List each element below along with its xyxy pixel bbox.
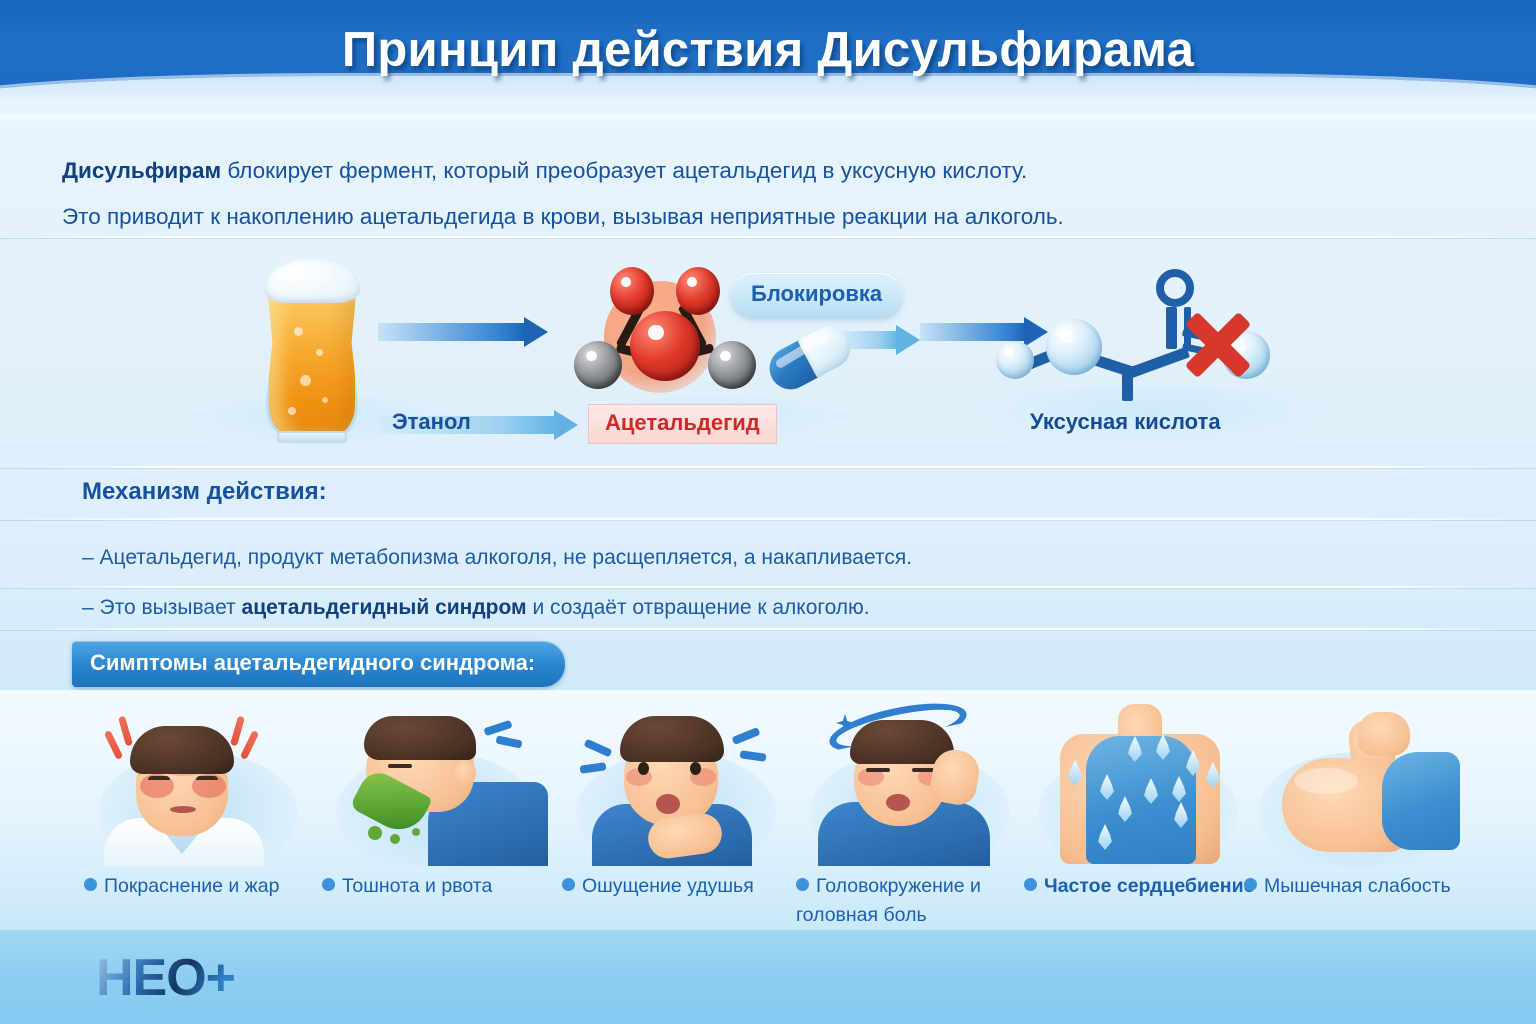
eye <box>690 762 701 775</box>
atom-hydrogen <box>708 341 756 389</box>
hair <box>620 716 724 762</box>
hair <box>364 716 476 760</box>
blocked-x-icon <box>1180 307 1256 383</box>
divider-intro <box>0 236 1536 239</box>
symptom-label-2: Тошнота и рвота <box>322 872 557 901</box>
atom-hydrogen <box>996 341 1034 379</box>
fist <box>1358 712 1410 756</box>
vomit-drop <box>368 826 382 840</box>
bullet-dot-icon <box>796 878 809 891</box>
atom-carbon-center <box>630 311 700 381</box>
mechanism-bullet-2: – Это вызывает ацетальдегидный синдром и… <box>82 596 870 620</box>
bullet-dot-icon <box>322 878 335 891</box>
beer-glass-icon <box>258 257 366 443</box>
vomit-drop <box>390 834 400 844</box>
acetic-acid-molecule <box>990 265 1280 405</box>
symptoms-illustration-row <box>84 694 1464 866</box>
mechanism-heading: Механизм действия: <box>82 478 327 506</box>
atom-oxygen <box>676 267 720 315</box>
symptom-label-1: Покраснение и жар <box>84 872 319 901</box>
arrow-ethanol-to-acetaldehyde <box>378 317 548 347</box>
symptom-label-4: Головокружение и головная боль <box>796 872 1031 930</box>
page-title: Принцип действия Дисульфирама <box>0 0 1536 100</box>
symptom-art-flushed-face <box>84 694 314 866</box>
symptom-label-text: Тошнота и рвота <box>342 875 492 897</box>
divider-mechanism <box>0 518 1536 521</box>
bullet2-post: и создаёт отвращение к алкоголю. <box>527 596 870 619</box>
symptom-art-dizzy-man <box>796 694 1026 866</box>
caption-acetic-acid: Уксусная кислота <box>1030 409 1221 435</box>
heat-wave <box>240 730 259 760</box>
muscle-highlight <box>1294 768 1358 794</box>
bubble <box>288 407 296 415</box>
symptom-label-text: Ошущение удушья <box>582 875 754 897</box>
symptom-label-5: Частое сердцебиение <box>1024 872 1259 901</box>
divider-diagram <box>0 466 1536 469</box>
atom-oxygen <box>610 267 654 315</box>
symptom-art-flexing-arm <box>1244 694 1474 866</box>
symptom-art-vomiting-man <box>322 694 552 866</box>
bullet-dot-icon <box>562 878 575 891</box>
intro-block: Дисульфирам блокирует фермент, который п… <box>62 148 1342 240</box>
bullet-dot-icon <box>1024 878 1037 891</box>
glass-foam <box>264 259 360 303</box>
bullet-dot-icon <box>84 878 97 891</box>
page-header: Принцип действия Дисульфирама <box>0 0 1536 100</box>
atom-carbon <box>1046 319 1102 375</box>
intro-line-1: Дисульфирам блокирует фермент, который п… <box>62 148 1342 194</box>
bubble <box>316 349 323 356</box>
intro-line-2: Это приводит к накоплению ацетальдегида … <box>62 194 1342 240</box>
bullet-dot-icon <box>1244 878 1257 891</box>
hair <box>130 726 234 774</box>
symptom-label-text: Головокружение и головная боль <box>796 875 981 926</box>
heat-wave <box>118 716 133 747</box>
brand-logo: НЕО+ <box>96 948 235 1004</box>
caption-ethanol: Этанол <box>392 409 471 435</box>
mechanism-bullet-1: – Ацетальдегид, продукт метабопизма алко… <box>82 546 912 570</box>
atom-hydrogen <box>574 341 622 389</box>
divider-mechanism-2 <box>0 586 1536 589</box>
open-mouth <box>656 794 680 814</box>
symptoms-heading: Симптомы ацетальдегидного синдрома: <box>72 641 565 687</box>
eye <box>638 762 649 775</box>
symptom-label-text: Покраснение и жар <box>104 875 279 897</box>
symptom-art-choking-man <box>562 694 792 866</box>
vomit-drop <box>412 828 420 836</box>
open-mouth <box>886 794 910 811</box>
blocking-badge: Блокировка <box>731 273 902 317</box>
symptom-art-sweating-torso <box>1024 694 1254 866</box>
intro-drug-name: Дисульфирам <box>62 158 221 183</box>
sleeve <box>1382 752 1460 850</box>
bubble <box>322 397 328 403</box>
atom-oxygen-double <box>1156 269 1194 307</box>
bubble <box>294 327 303 336</box>
intro-line-1-rest: блокирует фермент, который преобразует а… <box>221 158 1027 183</box>
symptom-label-text: Частое сердцебиение <box>1044 875 1254 897</box>
glass-base <box>277 431 347 443</box>
acetaldehyde-molecule <box>568 263 758 403</box>
ear <box>454 760 476 786</box>
header-sheen <box>0 112 1536 122</box>
page-footer: НЕО+ <box>0 930 1536 1024</box>
divider-symptoms <box>0 628 1536 631</box>
heat-wave <box>104 730 123 760</box>
symptom-label-3: Ошущение удушья <box>562 872 797 901</box>
symptom-label-6: Мышечная слабость <box>1244 872 1479 901</box>
bullet2-pre: – Это вызывает <box>82 596 242 619</box>
bullet2-strong: ацетальдегидный синдром <box>242 596 527 619</box>
bubble <box>300 375 311 386</box>
heat-wave <box>230 716 245 747</box>
symptom-label-text: Мышечная слабость <box>1264 875 1451 897</box>
caption-acetaldehyde: Ацетальдегид <box>588 404 777 444</box>
